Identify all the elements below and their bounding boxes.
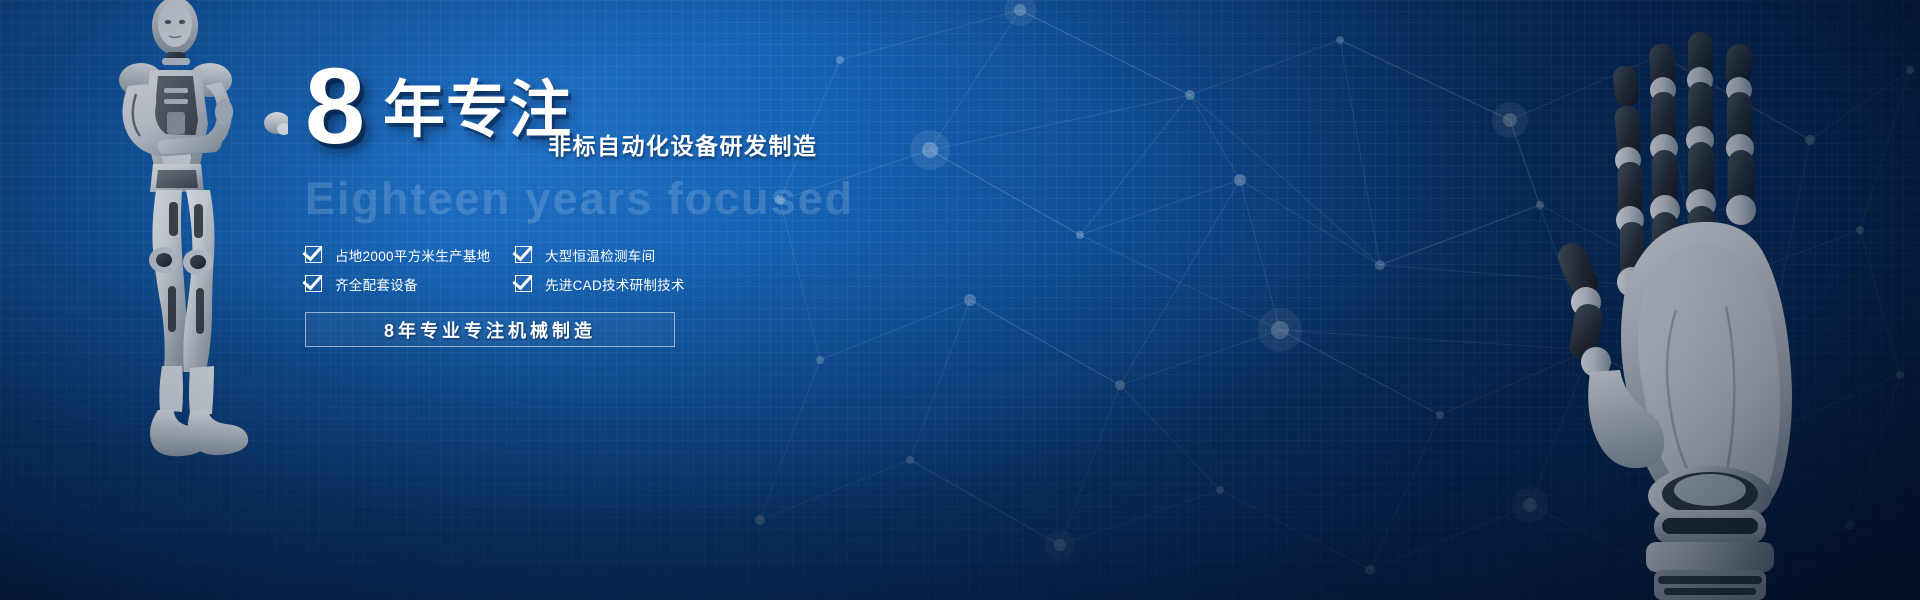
banner-content: 8 年专注 非标自动化设备研发制造 Eighteen years focused…	[305, 68, 1005, 347]
feature-list: 占地2000平方米生产基地 大型恒温检测车间 齐全配套设备 先进CAD技术研制技…	[305, 240, 1005, 298]
headline-subtitle: 非标自动化设备研发制造	[548, 135, 818, 158]
feature-label: 大型恒温检测车间	[545, 245, 655, 265]
check-icon	[515, 246, 532, 263]
feature-row: 占地2000平方米生产基地 大型恒温检测车间	[305, 240, 1005, 269]
feature-row: 齐全配套设备 先进CAD技术研制技术	[305, 269, 1005, 298]
headline-chinese: 年专注	[383, 80, 572, 142]
feature-item-workshop: 大型恒温检测车间	[515, 245, 815, 265]
feature-label: 占地2000平方米生产基地	[335, 245, 490, 265]
humanoid-robot-figure	[58, 0, 288, 496]
check-icon	[305, 246, 322, 263]
feature-label: 先进CAD技术研制技术	[545, 274, 685, 294]
check-icon	[305, 275, 322, 292]
check-icon	[515, 275, 532, 292]
feature-label: 齐全配套设备	[335, 274, 418, 294]
feature-item-cad: 先进CAD技术研制技术	[515, 274, 815, 294]
slogan-text: 8年专业专注机械制造	[384, 317, 596, 343]
robotic-hand	[1530, 10, 1890, 600]
feature-item-equipment: 齐全配套设备	[305, 274, 515, 294]
feature-item-area: 占地2000平方米生产基地	[305, 245, 515, 265]
slogan-box: 8年专业专注机械制造	[305, 312, 675, 347]
hero-banner: 8 年专注 非标自动化设备研发制造 Eighteen years focused…	[0, 0, 1920, 600]
headline-group: 8 年专注 非标自动化设备研发制造	[305, 68, 1005, 154]
headline-number: 8	[305, 52, 363, 160]
ghost-english-text: Eighteen years focused	[305, 176, 1005, 222]
